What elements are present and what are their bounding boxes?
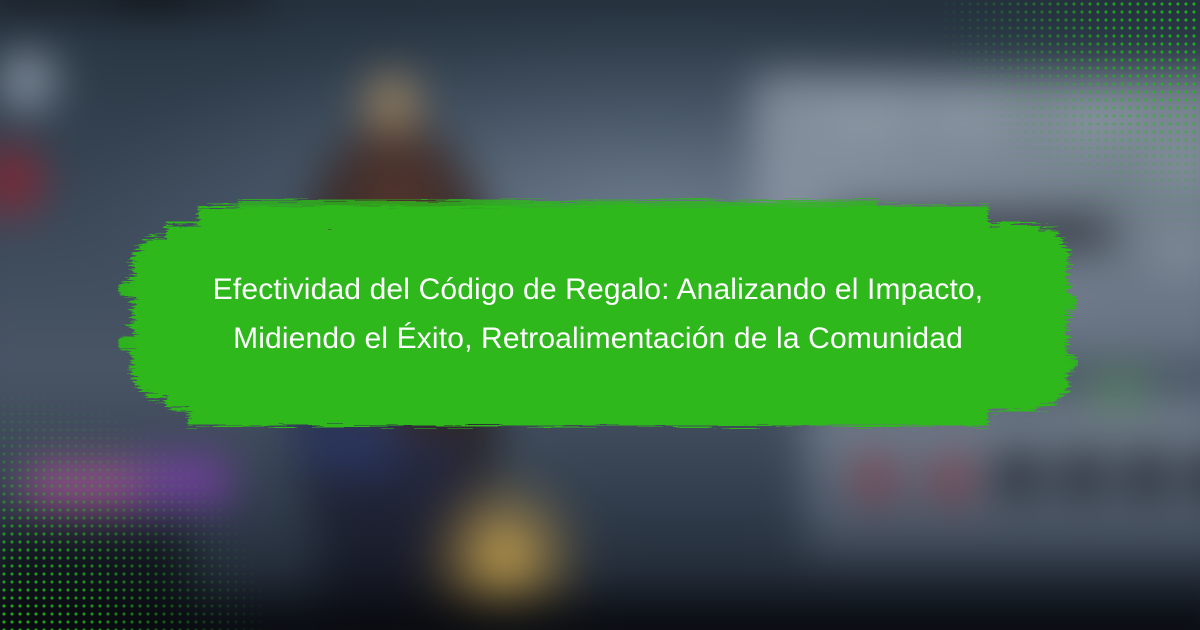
title-line-1: Efectividad del Código de Regalo: Analiz… <box>213 266 984 315</box>
background-blob-red <box>856 457 894 500</box>
background-blob-green <box>1086 372 1150 408</box>
background-card <box>1061 102 1138 138</box>
background-card <box>1150 145 1200 188</box>
background-blob-red <box>933 457 971 500</box>
background-blob-magenta <box>24 464 139 507</box>
background-top-bar-dark <box>114 0 191 6</box>
banner-title: Efectividad del Código de Regalo: Analiz… <box>118 186 1078 444</box>
background-blob-dark <box>1125 450 1169 500</box>
background-blob-light <box>0 52 56 109</box>
background-card <box>830 102 907 138</box>
background-character-head <box>363 74 421 138</box>
background-blob-purple <box>139 457 229 507</box>
background-blob-dark <box>997 450 1041 500</box>
background-blob-dark <box>1061 450 1105 500</box>
background-card <box>1150 230 1200 273</box>
brush-stroke-banner: Efectividad del Código de Regalo: Analiz… <box>118 186 1078 444</box>
background-card <box>933 102 1010 138</box>
background-blob-dark <box>0 599 1200 630</box>
title-line-2: Midiendo el Éxito, Retroalimentación de … <box>233 315 963 364</box>
